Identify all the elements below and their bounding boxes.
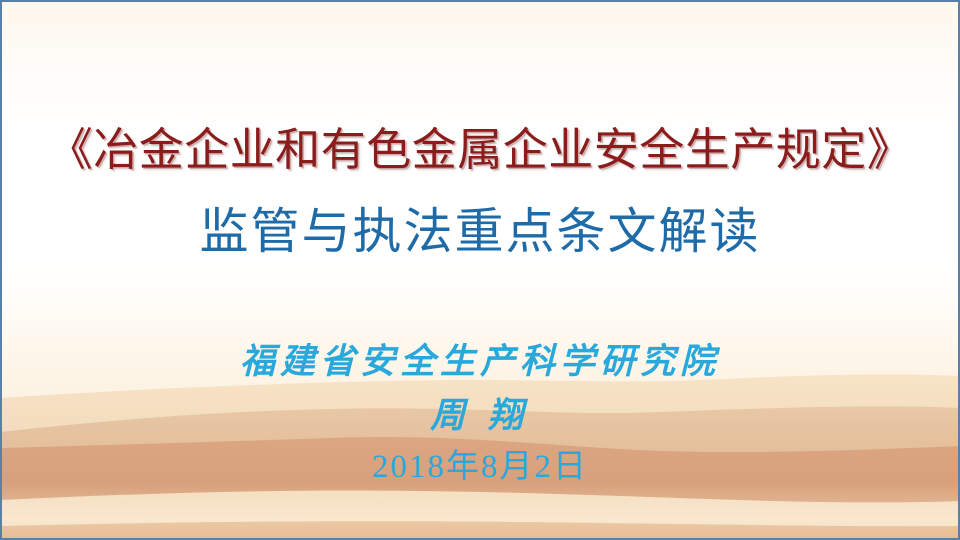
title-slide: 《冶金企业和有色金属企业安全生产规定》 监管与执法重点条文解读 福建省安全生产科… <box>0 0 960 540</box>
credit-organization: 福建省安全生产科学研究院 <box>2 339 958 385</box>
slide-content: 《冶金企业和有色金属企业安全生产规定》 监管与执法重点条文解读 福建省安全生产科… <box>2 2 958 538</box>
title-line-subject: 监管与执法重点条文解读 <box>2 200 958 264</box>
credit-presenter: 周 翔 <box>2 393 958 439</box>
title-line-regulation-name: 《冶金企业和有色金属企业安全生产规定》 <box>2 120 958 180</box>
credit-date: 2018年8月2日 <box>2 445 958 489</box>
